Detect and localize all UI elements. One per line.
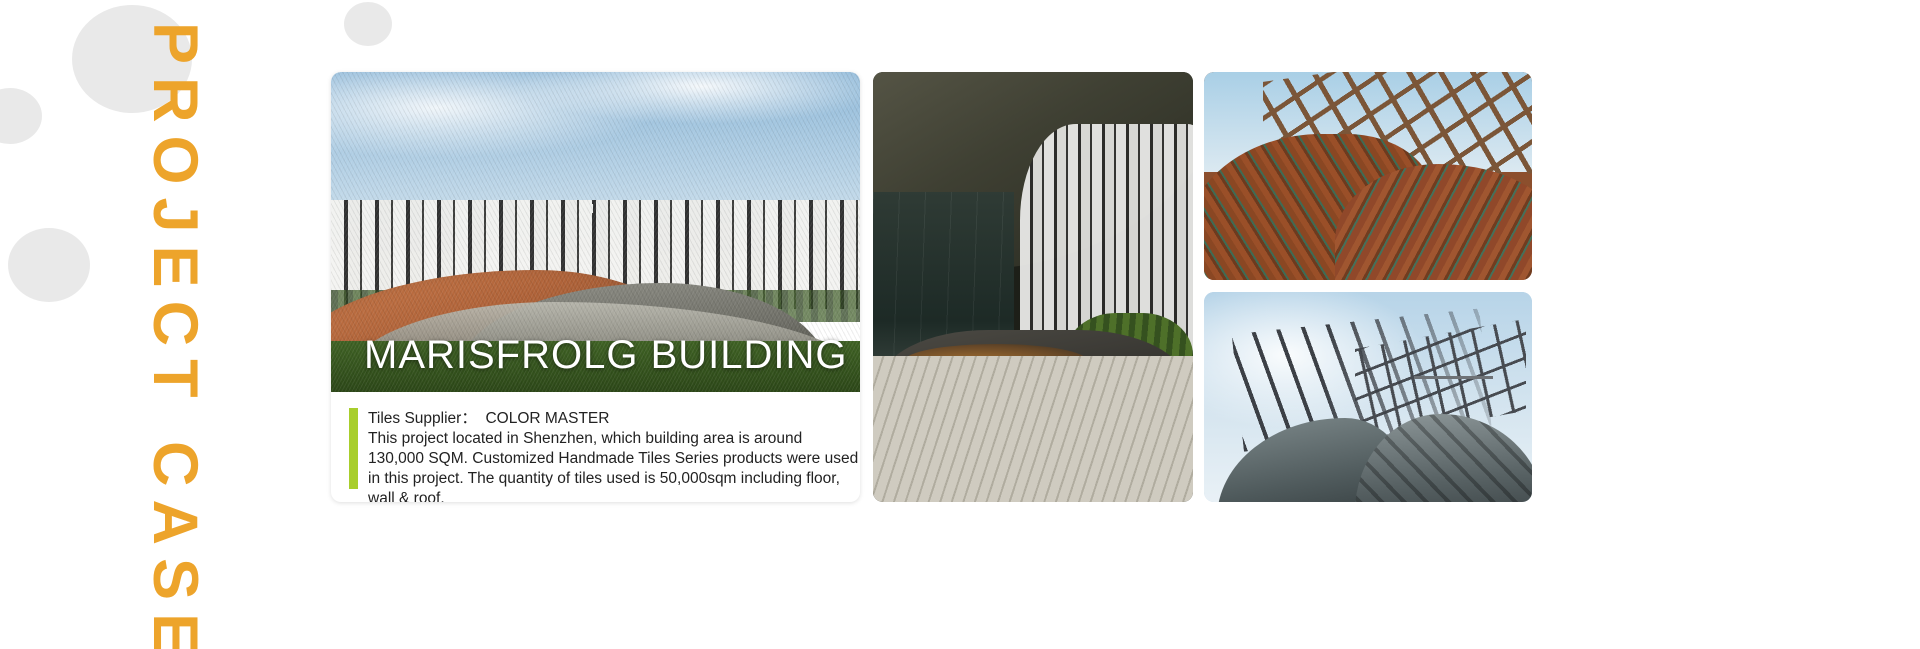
decorative-circle-small-left <box>0 88 42 144</box>
gallery-photo-courtyard-walkway[interactable] <box>873 72 1193 502</box>
project-description: This project located in Shenzhen, which … <box>368 429 860 502</box>
card-text-body: Tiles Supplier： COLOR MASTER This projec… <box>331 392 860 502</box>
supplier-name: COLOR MASTER <box>485 410 609 427</box>
supplier-line: Tiles Supplier： COLOR MASTER <box>368 409 846 429</box>
gallery-photo-mosaic-tile-canopy[interactable] <box>1204 72 1532 280</box>
decorative-circle-top <box>344 2 392 46</box>
br-crane-layer <box>1414 376 1493 379</box>
section-title-text: PROJECT CASE <box>144 0 207 649</box>
green-accent-bar <box>349 408 358 489</box>
mid-paving-layer <box>873 356 1193 502</box>
supplier-label: Tiles Supplier： <box>368 410 477 427</box>
project-feature-card[interactable]: MARISFROLG BUILDING Tiles Supplier： COLO… <box>331 72 860 502</box>
project-case-section: PROJECT CASE MARISFROLG BUILDING Tiles S… <box>0 0 1920 649</box>
section-vertical-title: PROJECT CASE <box>138 0 212 649</box>
hero-image-wrapper[interactable]: MARISFROLG BUILDING <box>331 72 860 392</box>
gallery-photo-roof-construction[interactable] <box>1204 292 1532 502</box>
decorative-circle-medium <box>8 228 90 302</box>
hero-title: MARISFROLG BUILDING <box>364 333 848 378</box>
